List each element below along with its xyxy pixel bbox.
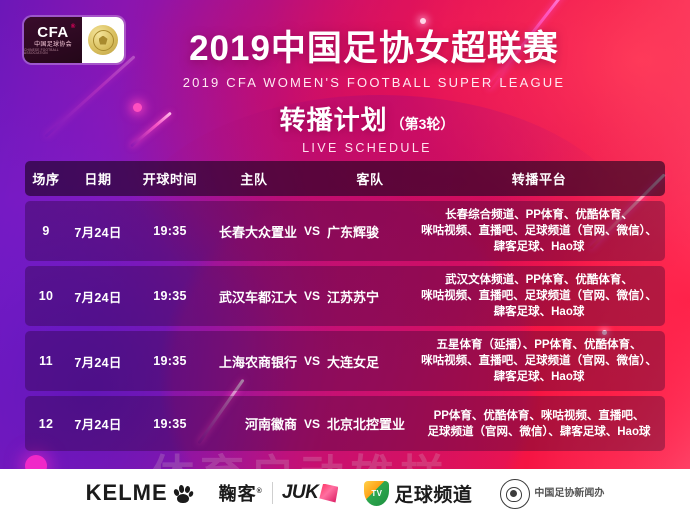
sponsor-football-channel: TV 足球频道 [364, 480, 472, 507]
cell-kickoff: 19:35 [129, 224, 211, 238]
table-row: 10 7月24日 19:35 武汉车都江大 VS 江苏苏宁 武汉文体频道、PP体… [25, 266, 665, 326]
column-header-away: 客队 [327, 169, 413, 188]
column-header-date: 日期 [67, 169, 129, 188]
platform-line: 咪咕视频、直播吧、足球频道（官网、微信）、 [419, 353, 659, 369]
cfa-circle-icon [498, 479, 532, 507]
cell-date: 7月24日 [67, 352, 129, 371]
subtitle-block: 转播计划 （第3轮） LIVE SCHEDULE [0, 100, 690, 155]
cell-match-no: 12 [25, 417, 67, 431]
paw-print-icon [173, 484, 193, 503]
subtitle-round: （第3轮） [391, 114, 455, 134]
cell-home-team: 武汉车都江大 [211, 287, 297, 306]
platform-line: 咪咕视频、直播吧、足球频道（官网、微信）、 [419, 288, 659, 304]
cell-home-team: 上海农商银行 [211, 352, 297, 371]
sponsor-juke: 鞠客® JUK [219, 480, 339, 506]
platform-line: 肆客足球、Hao球 [419, 239, 659, 255]
column-header-home: 主队 [211, 169, 297, 188]
cell-platforms: PP体育、优酷体育、咪咕视频、直播吧、 足球频道（官网、微信）、肆客足球、Hao… [413, 408, 665, 440]
subtitle-line: 转播计划 （第3轮） [280, 100, 455, 137]
juke-mark-icon [319, 484, 338, 503]
cell-match-no: 11 [25, 354, 67, 368]
cell-away-team: 广东辉骏 [327, 222, 413, 241]
cell-platforms: 五星体育（延播）、PP体育、优酷体育、 咪咕视频、直播吧、足球频道（官网、微信）… [413, 337, 665, 385]
cell-match-no: 9 [25, 224, 67, 238]
cell-date: 7月24日 [67, 222, 129, 241]
cell-match-no: 10 [25, 289, 67, 303]
tv-shield-icon: TV [364, 481, 389, 506]
platform-line: PP体育、优酷体育、咪咕视频、直播吧、 [419, 408, 659, 424]
cell-vs-label: VS [297, 354, 327, 368]
column-header-platform: 转播平台 [413, 169, 665, 188]
cell-vs-label: VS [297, 224, 327, 238]
subtitle-english: LIVE SCHEDULE [44, 141, 690, 155]
cell-kickoff: 19:35 [129, 417, 211, 431]
cell-home-team: 长春大众置业 [211, 222, 297, 241]
cell-vs-label: VS [297, 417, 327, 431]
cell-date: 7月24日 [67, 287, 129, 306]
column-header-time: 开球时间 [129, 169, 211, 188]
sponsor-kelme: KELME [86, 480, 193, 506]
cell-platforms: 武汉文体频道、PP体育、优酷体育、 咪咕视频、直播吧、足球频道（官网、微信）、 … [413, 272, 665, 320]
tv-shield-label: TV [371, 489, 382, 498]
cell-away-team: 大连女足 [327, 352, 413, 371]
table-row: 9 7月24日 19:35 长春大众置业 VS 广东辉骏 长春综合频道、PP体育… [25, 201, 665, 261]
sponsor-juke-label: 鞠客® [219, 480, 263, 506]
cell-vs-label: VS [297, 289, 327, 303]
schedule-table: 场序 日期 开球时间 主队 客队 转播平台 9 7月24日 19:35 长春大众… [25, 161, 665, 456]
sponsor-cfa-press-label: 中国足协新闻办 [534, 488, 604, 499]
platform-line: 咪咕视频、直播吧、足球频道（官网、微信）、 [419, 223, 659, 239]
sponsor-football-channel-label: 足球频道 [394, 480, 472, 507]
cell-home-team: 河南徽商 [211, 414, 297, 433]
cell-kickoff: 19:35 [129, 289, 211, 303]
poster-canvas: CFA® 中国足球协会 CHINESE FOOTBALL ASSOCIATION… [0, 0, 690, 517]
sponsor-cfa-press: 中国足协新闻办 [498, 479, 604, 507]
platform-line: 足球频道（官网、微信）、肆客足球、Hao球 [419, 424, 659, 440]
table-row: 11 7月24日 19:35 上海农商银行 VS 大连女足 五星体育（延播）、P… [25, 331, 665, 391]
table-row: 12 7月24日 19:35 河南徽商 VS 北京北控置业 PP体育、优酷体育、… [25, 396, 665, 451]
sponsor-divider [272, 482, 273, 504]
page-title-english: 2019 CFA WOMEN'S FOOTBALL SUPER LEAGUE [0, 75, 690, 90]
sponsor-kelme-label: KELME [86, 480, 168, 506]
title-block: 2019中国足协女超联赛 2019 CFA WOMEN'S FOOTBALL S… [0, 20, 690, 90]
table-header-row: 场序 日期 开球时间 主队 客队 转播平台 [25, 161, 665, 196]
platform-line: 肆客足球、Hao球 [419, 304, 659, 320]
sponsor-juke-cn-text: 鞠客 [219, 484, 257, 504]
page-title: 2019中国足协女超联赛 [0, 20, 690, 71]
platform-line: 肆客足球、Hao球 [419, 369, 659, 385]
column-header-no: 场序 [25, 169, 67, 188]
platform-line: 武汉文体频道、PP体育、优酷体育、 [419, 272, 659, 288]
cell-date: 7月24日 [67, 414, 129, 433]
cell-away-team: 北京北控置业 [327, 414, 413, 433]
footer-sponsor-bar: KELME 鞠客® JUK TV 足球频道 中国足协新闻办 [0, 469, 690, 517]
subtitle-text: 转播计划 [280, 100, 388, 137]
sponsor-juk-latin: JUK [282, 482, 319, 504]
registered-mark: ® [257, 488, 263, 495]
platform-line: 五星体育（延播）、PP体育、优酷体育、 [419, 337, 659, 353]
cell-kickoff: 19:35 [129, 354, 211, 368]
cell-away-team: 江苏苏宁 [327, 287, 413, 306]
cell-platforms: 长春综合频道、PP体育、优酷体育、 咪咕视频、直播吧、足球频道（官网、微信）、 … [413, 207, 665, 255]
platform-line: 长春综合频道、PP体育、优酷体育、 [419, 207, 659, 223]
